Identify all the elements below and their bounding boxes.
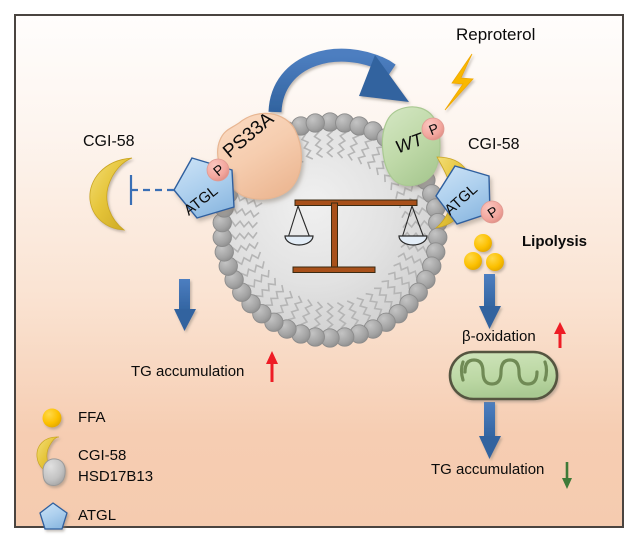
conversion-arrow xyxy=(275,55,409,112)
tg-right-indicator-arrow xyxy=(562,462,572,489)
tg-left-indicator-arrow xyxy=(266,351,278,382)
arrow-to-beta-oxidation xyxy=(479,274,501,329)
label-cgi58-left: CGI-58 xyxy=(83,134,135,150)
cgi58-crescent-left xyxy=(90,158,132,230)
legend-atgl-icon xyxy=(40,503,67,529)
reproterol-lightning-icon xyxy=(445,54,473,110)
legend-label-atgl: ATGL xyxy=(78,508,116,523)
ffa-group xyxy=(464,234,504,271)
label-cgi58-right: CGI-58 xyxy=(468,137,520,153)
figure-canvas: Reproterol CGI-58 CGI-58 PS33A WT ATGL A… xyxy=(0,0,638,542)
arrow-to-tg-right xyxy=(479,402,501,459)
legend-label-hsd17b13: HSD17B13 xyxy=(78,469,153,484)
legend-hsd17b13-icon xyxy=(43,459,65,486)
arrow-tg-left xyxy=(174,279,196,331)
beta-oxidation-indicator-arrow xyxy=(554,322,566,348)
inhibition-connector xyxy=(131,175,176,205)
label-reproterol: Reproterol xyxy=(456,26,535,43)
legend-label-cgi58: CGI-58 xyxy=(78,448,126,463)
label-tg-accumulation-left: TG accumulation xyxy=(131,364,244,379)
phospholipid-head xyxy=(306,114,324,132)
ffa-circle xyxy=(464,252,482,270)
ffa-circle xyxy=(474,234,492,252)
legend-glyphs xyxy=(37,409,67,530)
label-beta-oxidation: β-oxidation xyxy=(462,329,536,344)
legend-ffa-icon xyxy=(43,409,62,428)
label-tg-accumulation-right: TG accumulation xyxy=(431,462,544,477)
legend-label-ffa: FFA xyxy=(78,410,106,425)
mitochondrion xyxy=(450,352,557,399)
label-lipolysis: Lipolysis xyxy=(522,234,587,249)
ffa-circle xyxy=(486,253,504,271)
